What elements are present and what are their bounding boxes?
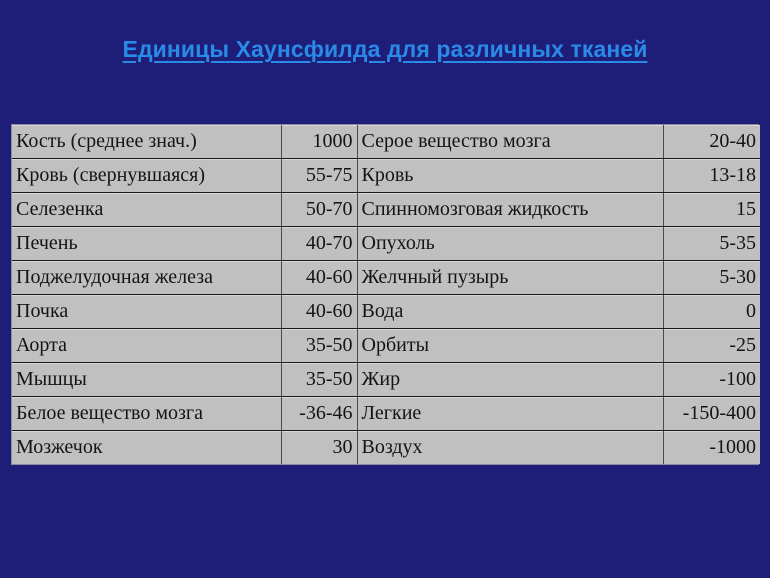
cell-tissue-right: Жир	[357, 363, 663, 397]
cell-tissue-right: Воздух	[357, 431, 663, 465]
table-row: Печень40-70Опухоль5-35	[12, 227, 760, 261]
cell-tissue-left: Кровь (свернувшаяся)	[12, 159, 281, 193]
cell-tissue-right: Кровь	[357, 159, 663, 193]
table-row: Кость (среднее знач.)1000Серое вещество …	[12, 125, 760, 159]
hounsfield-units-table: Кость (среднее знач.)1000Серое вещество …	[11, 124, 759, 465]
cell-hu-right: -100	[663, 363, 760, 397]
cell-hu-left: 35-50	[281, 363, 357, 397]
cell-tissue-left: Кость (среднее знач.)	[12, 125, 281, 159]
cell-hu-right: -25	[663, 329, 760, 363]
cell-hu-right: -1000	[663, 431, 760, 465]
cell-hu-left: 35-50	[281, 329, 357, 363]
cell-hu-left: 30	[281, 431, 357, 465]
table-row: Мышцы35-50Жир-100	[12, 363, 760, 397]
table-row: Кровь (свернувшаяся)55-75Кровь13-18	[12, 159, 760, 193]
cell-hu-left: 40-60	[281, 295, 357, 329]
cell-hu-right: -150-400	[663, 397, 760, 431]
cell-tissue-right: Серое вещество мозга	[357, 125, 663, 159]
table-row: Почка40-60Вода0	[12, 295, 760, 329]
cell-hu-right: 15	[663, 193, 760, 227]
cell-tissue-right: Легкие	[357, 397, 663, 431]
table-row: Аорта35-50Орбиты-25	[12, 329, 760, 363]
cell-hu-right: 5-35	[663, 227, 760, 261]
cell-tissue-right: Вода	[357, 295, 663, 329]
cell-hu-left: 50-70	[281, 193, 357, 227]
cell-tissue-left: Печень	[12, 227, 281, 261]
cell-tissue-left: Мозжечок	[12, 431, 281, 465]
table-row: Мозжечок30Воздух-1000	[12, 431, 760, 465]
cell-tissue-right: Желчный пузырь	[357, 261, 663, 295]
cell-hu-right: 20-40	[663, 125, 760, 159]
table-row: Белое вещество мозга-36-46Легкие-150-400	[12, 397, 760, 431]
cell-hu-right: 5-30	[663, 261, 760, 295]
table: Кость (среднее знач.)1000Серое вещество …	[12, 125, 760, 464]
cell-hu-right: 0	[663, 295, 760, 329]
cell-hu-left: -36-46	[281, 397, 357, 431]
cell-hu-right: 13-18	[663, 159, 760, 193]
cell-tissue-right: Опухоль	[357, 227, 663, 261]
cell-hu-left: 1000	[281, 125, 357, 159]
table-body: Кость (среднее знач.)1000Серое вещество …	[12, 125, 760, 464]
cell-tissue-left: Селезенка	[12, 193, 281, 227]
cell-tissue-left: Поджелудочная железа	[12, 261, 281, 295]
cell-hu-left: 40-70	[281, 227, 357, 261]
cell-tissue-left: Белое вещество мозга	[12, 397, 281, 431]
table-row: Селезенка50-70Спинномозговая жидкость15	[12, 193, 760, 227]
table-row: Поджелудочная железа40-60Желчный пузырь5…	[12, 261, 760, 295]
cell-hu-left: 40-60	[281, 261, 357, 295]
cell-tissue-left: Аорта	[12, 329, 281, 363]
cell-hu-left: 55-75	[281, 159, 357, 193]
cell-tissue-right: Спинномозговая жидкость	[357, 193, 663, 227]
page-title: Единицы Хаунсфилда для различных тканей	[0, 36, 770, 63]
cell-tissue-right: Орбиты	[357, 329, 663, 363]
cell-tissue-left: Почка	[12, 295, 281, 329]
cell-tissue-left: Мышцы	[12, 363, 281, 397]
